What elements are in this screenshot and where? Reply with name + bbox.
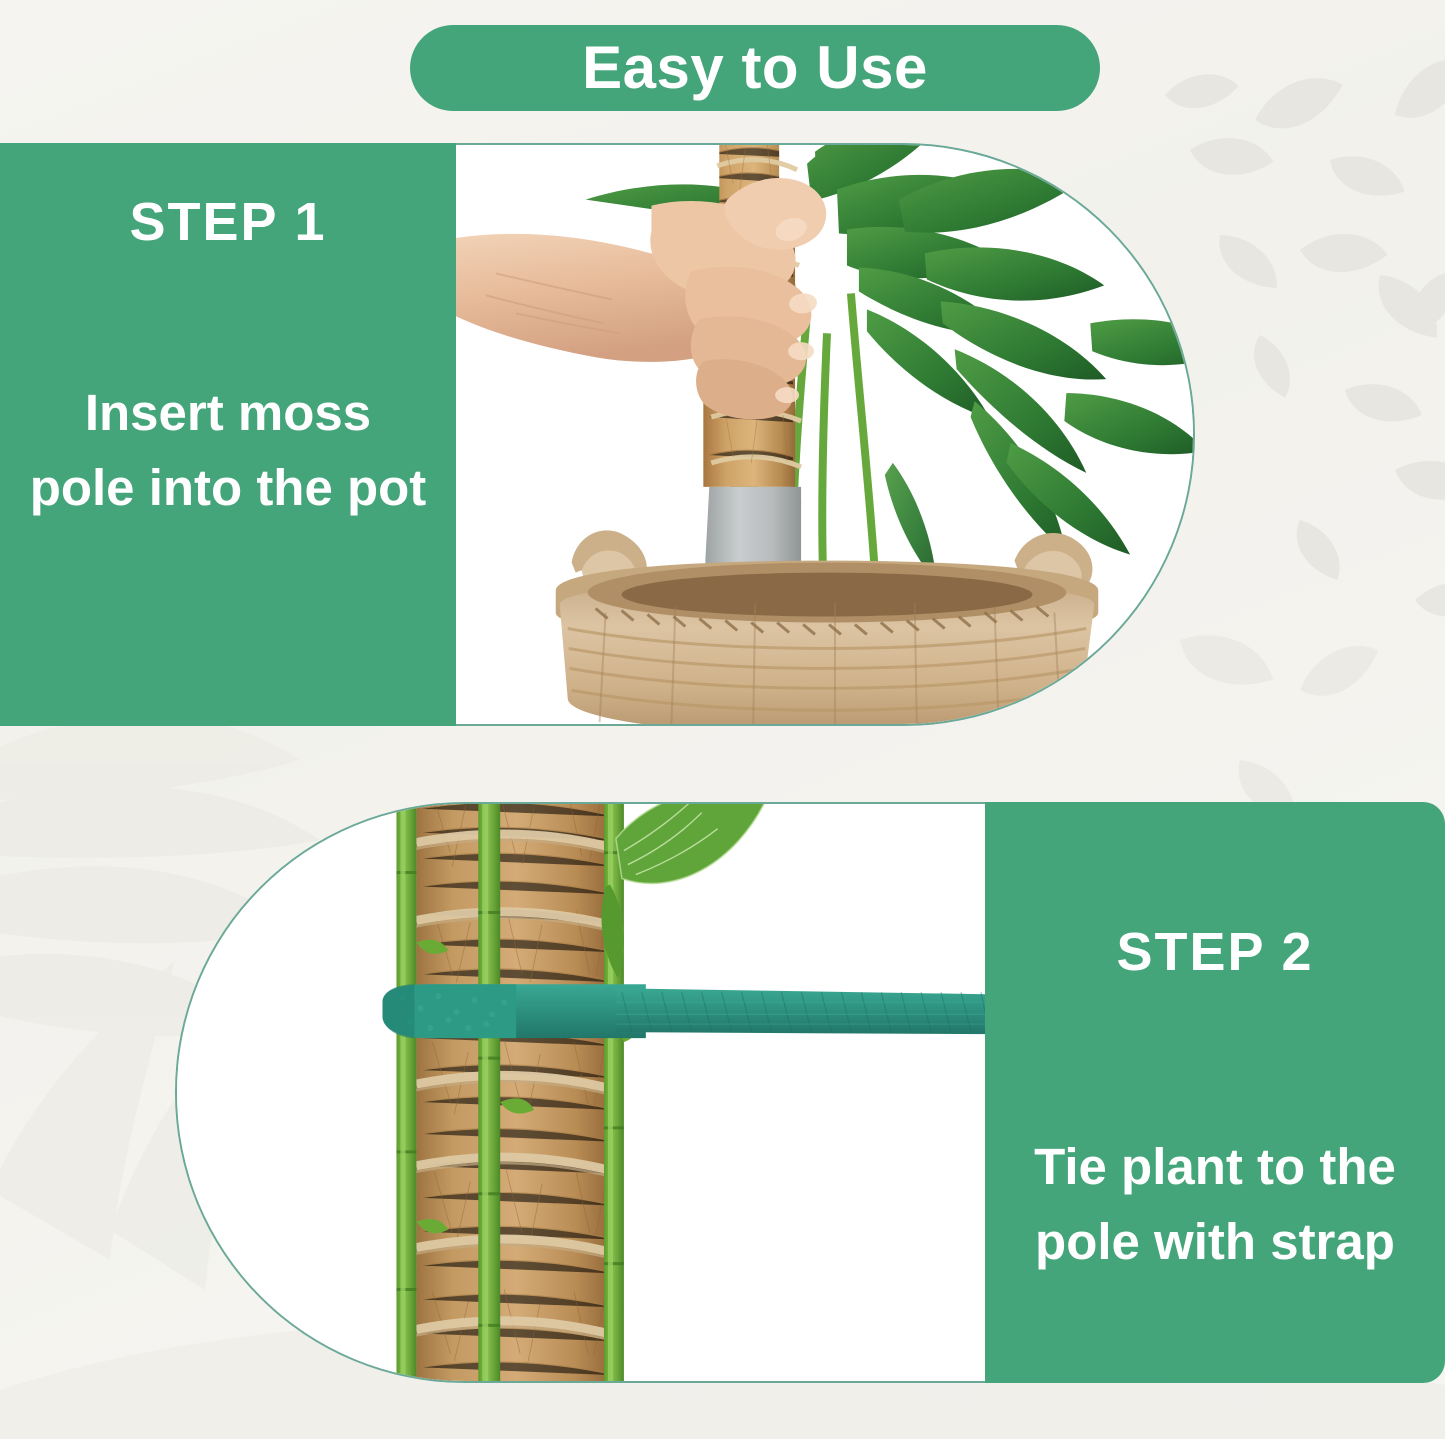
moss-pole [416, 804, 616, 1381]
header-band: Easy to Use [0, 0, 1445, 140]
step-2-description: Tie plant to the pole with strap [1034, 1129, 1396, 1280]
step-2-photo [175, 802, 987, 1383]
step-2-panel: STEP 2 Tie plant to the pole with strap [175, 802, 1445, 1383]
step-1-description: Insert moss pole into the pot [30, 375, 427, 526]
step-1-label: STEP 1 [129, 195, 326, 249]
step-1-text-area: STEP 1 Insert moss pole into the pot [0, 143, 456, 726]
step-1-photo [456, 143, 1195, 726]
page-title: Easy to Use [582, 38, 928, 98]
step-2-label: STEP 2 [1116, 925, 1313, 979]
step-2-text-area: STEP 2 Tie plant to the pole with strap [985, 802, 1445, 1383]
title-pill: Easy to Use [410, 25, 1100, 111]
step-1-panel: STEP 1 Insert moss pole into the pot [0, 143, 1195, 726]
